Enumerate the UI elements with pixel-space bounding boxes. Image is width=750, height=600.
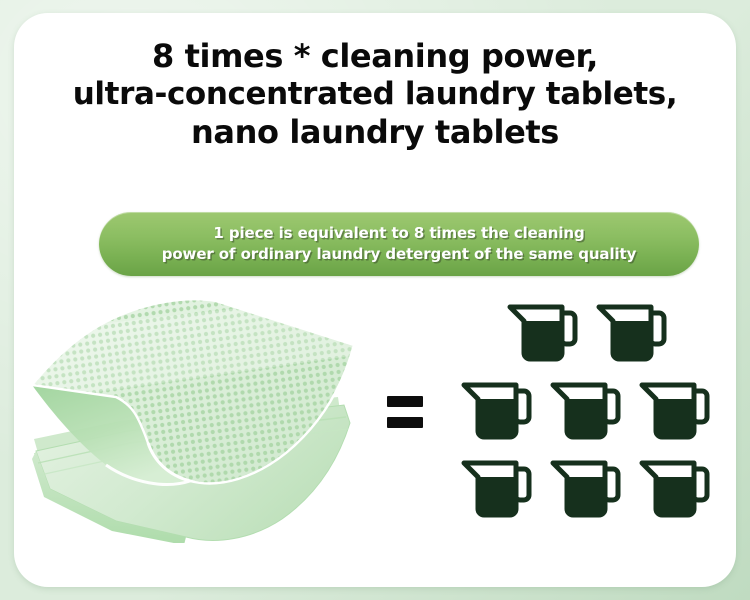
jug-row xyxy=(446,453,726,523)
equals-sign-label: = xyxy=(379,388,380,389)
equals-sign-icon: = xyxy=(379,388,431,436)
measuring-jug-icon xyxy=(547,453,625,523)
claim-banner: 1 piece is equivalent to 8 times the cle… xyxy=(99,212,699,276)
measuring-jug-icon xyxy=(458,453,536,523)
poster-card: 8 times * cleaning power, ultra-concentr… xyxy=(14,13,736,587)
claim-banner-text: 1 piece is equivalent to 8 times the cle… xyxy=(119,223,679,265)
poster-canvas: 8 times * cleaning power, ultra-concentr… xyxy=(0,0,750,600)
laundry-sheet-icon xyxy=(20,293,372,543)
jug-row xyxy=(446,297,726,367)
measuring-jug-icon xyxy=(458,375,536,445)
measuring-jug-icon xyxy=(547,375,625,445)
measuring-jug-icon xyxy=(504,297,582,367)
comparison-area: = xyxy=(14,293,736,583)
jug-row xyxy=(446,375,726,445)
banner-line-1: 1 piece is equivalent to 8 times the cle… xyxy=(119,223,679,244)
measuring-jug-icon xyxy=(636,375,714,445)
detergent-jug-grid xyxy=(446,297,726,537)
headline-line-3: nano laundry tablets xyxy=(14,113,736,151)
measuring-jug-icon xyxy=(636,453,714,523)
banner-line-2: power of ordinary laundry detergent of t… xyxy=(119,244,679,265)
headline-line-2: ultra-concentrated laundry tablets, xyxy=(14,75,736,113)
headline-line-1: 8 times * cleaning power, xyxy=(14,37,736,75)
measuring-jug-icon xyxy=(593,297,671,367)
page-title: 8 times * cleaning power, ultra-concentr… xyxy=(14,37,736,151)
